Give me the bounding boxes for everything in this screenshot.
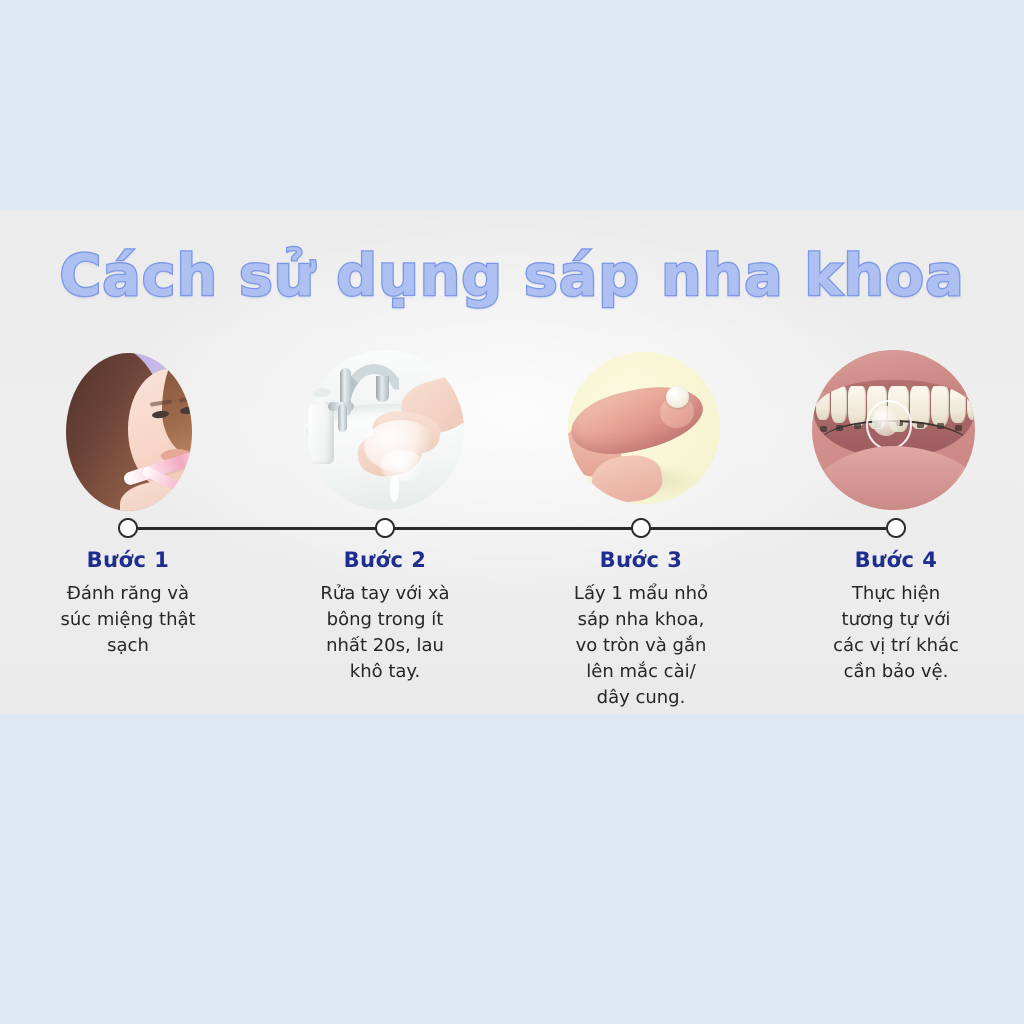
photo-brushing-teeth-scene xyxy=(66,353,192,511)
step-1-label: Bước 1 xyxy=(13,548,243,572)
soap-bottle-cap xyxy=(311,388,331,397)
text-line-5: dây cung. xyxy=(526,685,756,711)
tooth xyxy=(831,386,847,423)
step-2: Bước 2 Rửa tay với xàbông trong ítnhất 2… xyxy=(270,548,500,685)
timeline-node-1[interactable] xyxy=(118,518,138,538)
step-1: Bước 1 Đánh răng vàsúc miệng thậtsạch xyxy=(13,548,243,659)
bracket xyxy=(955,425,962,431)
step-4-image xyxy=(812,350,975,510)
timeline xyxy=(0,505,1024,553)
timeline-node-3[interactable] xyxy=(631,518,651,538)
text-line-2: bông trong ít xyxy=(270,607,500,633)
text-line-3: nhất 20s, lau xyxy=(270,633,500,659)
timeline-node-4[interactable] xyxy=(886,518,906,538)
bracket xyxy=(971,426,974,432)
text-line-4: khô tay. xyxy=(270,659,500,685)
step-3-image xyxy=(568,352,720,504)
page-title-wrap: Cách sử dụng sáp nha khoa xyxy=(0,243,1024,309)
bracket xyxy=(937,423,944,429)
highlight-ring xyxy=(866,400,912,450)
text-line-1: Lấy 1 mẩu nhỏ xyxy=(526,581,756,607)
text-line-2: tương tự với xyxy=(781,607,1011,633)
infographic-root: Cách sử dụng sáp nha khoa xyxy=(0,0,1024,1024)
text-line-1: Rửa tay với xà xyxy=(270,581,500,607)
tooth xyxy=(950,386,966,423)
photo-wax-on-finger-scene xyxy=(568,352,720,504)
text-line-3: các vị trí khác xyxy=(781,633,1011,659)
faucet-spout xyxy=(376,376,389,402)
timeline-line xyxy=(128,527,896,530)
text-line-2: súc miệng thật xyxy=(13,607,243,633)
water-drip xyxy=(390,476,399,502)
step-4-body: Thực hiệntương tự vớicác vị trí kháccần … xyxy=(781,581,1011,685)
step-1-body: Đánh răng vàsúc miệng thậtsạch xyxy=(13,581,243,659)
step-1-image xyxy=(66,353,192,511)
step-4-label: Bước 4 xyxy=(781,548,1011,572)
text-line-3: vo tròn và gắn xyxy=(526,633,756,659)
tooth xyxy=(967,386,974,420)
step-3-body: Lấy 1 mẩu nhỏsáp nha khoa,vo tròn và gắn… xyxy=(526,581,756,711)
bracket xyxy=(917,422,924,428)
bracket xyxy=(820,426,827,432)
text-line-2: sáp nha khoa, xyxy=(526,607,756,633)
bracket xyxy=(854,423,861,429)
tooth xyxy=(931,386,949,426)
tooth xyxy=(848,386,866,426)
step-2-image xyxy=(306,350,464,510)
step-3-label: Bước 3 xyxy=(526,548,756,572)
timeline-node-2[interactable] xyxy=(375,518,395,538)
text-line-3: sạch xyxy=(13,633,243,659)
text-line-4: cần bảo vệ. xyxy=(781,659,1011,685)
soap-bottle xyxy=(308,402,334,464)
wax-ball-icon xyxy=(666,386,689,408)
steps-list: Bước 1 Đánh răng vàsúc miệng thậtsạch Bư… xyxy=(0,548,1024,718)
step-4: Bước 4 Thực hiệntương tự vớicác vị trí k… xyxy=(781,548,1011,685)
step-3: Bước 3 Lấy 1 mẩu nhỏsáp nha khoa,vo tròn… xyxy=(526,548,756,711)
faucet-stem xyxy=(338,404,347,432)
tooth xyxy=(816,386,830,420)
step-2-body: Rửa tay với xàbông trong ítnhất 20s, lau… xyxy=(270,581,500,685)
step-2-label: Bước 2 xyxy=(270,548,500,572)
soap-suds-secondary xyxy=(380,450,424,482)
bracket xyxy=(836,425,843,431)
photo-braces-with-wax-scene xyxy=(812,350,975,510)
text-line-1: Đánh răng và xyxy=(13,581,243,607)
text-line-1: Thực hiện xyxy=(781,581,1011,607)
text-line-4: lên mắc cài/ xyxy=(526,659,756,685)
page-title: Cách sử dụng sáp nha khoa xyxy=(59,243,964,309)
photo-washing-hands-scene xyxy=(306,350,464,510)
